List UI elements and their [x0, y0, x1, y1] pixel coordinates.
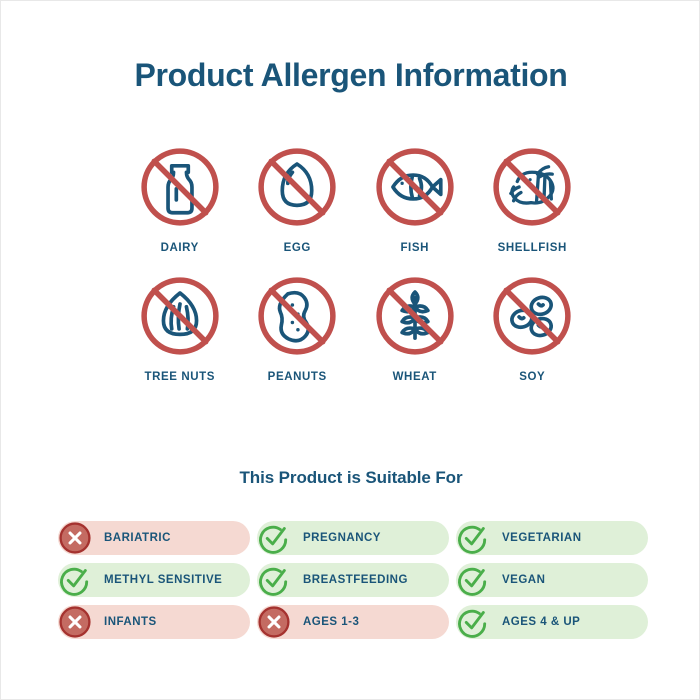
allergen-label: FISH	[400, 242, 429, 254]
suitability-item-pregnancy[interactable]: PREGNANCY	[257, 521, 449, 555]
prohibition-badge-fish	[369, 141, 461, 233]
allergen-grid: DAIRY EGG	[121, 141, 591, 383]
allergen-label: EGG	[284, 242, 311, 254]
allergen-item-egg: EGG	[239, 141, 357, 254]
prohibition-badge-shellfish	[486, 141, 578, 233]
allergen-label: DAIRY	[161, 242, 199, 254]
cross-circle-icon	[57, 604, 93, 640]
no-slash-circle	[144, 280, 216, 352]
allergen-infographic: Product Allergen Information DAIRY	[0, 0, 700, 700]
prohibition-badge-dairy	[134, 141, 226, 233]
suitability-label: METHYL SENSITIVE	[104, 574, 222, 586]
allergen-label: WHEAT	[393, 371, 437, 383]
allergen-item-peanuts: PEANUTS	[239, 270, 357, 383]
suitability-grid: BARIATRIC PREGNANCY VEGETARIAN	[58, 521, 648, 639]
prohibition-badge-tree-nuts	[134, 270, 226, 362]
suitability-label: AGES 1-3	[303, 616, 359, 628]
prohibition-badge-egg	[251, 141, 343, 233]
no-slash-circle	[496, 151, 568, 223]
allergen-item-fish: FISH	[356, 141, 474, 254]
check-circle-icon	[256, 562, 292, 598]
suitability-label: BREASTFEEDING	[303, 574, 408, 586]
page-title: Product Allergen Information	[1, 57, 700, 94]
no-slash-circle	[496, 280, 568, 352]
check-circle-icon	[256, 520, 292, 556]
suitability-item-methyl-sensitive[interactable]: METHYL SENSITIVE	[58, 563, 250, 597]
allergen-item-wheat: WHEAT	[356, 270, 474, 383]
allergen-item-soy: SOY	[474, 270, 592, 383]
suitability-label: AGES 4 & UP	[502, 616, 580, 628]
allergen-item-tree-nuts: TREE NUTS	[121, 270, 239, 383]
suitability-item-breastfeeding[interactable]: BREASTFEEDING	[257, 563, 449, 597]
suitability-label: BARIATRIC	[104, 532, 171, 544]
allergen-label: TREE NUTS	[144, 371, 215, 383]
allergen-label: SOY	[519, 371, 545, 383]
suitability-item-infants[interactable]: INFANTS	[58, 605, 250, 639]
prohibition-badge-wheat	[369, 270, 461, 362]
allergen-item-dairy: DAIRY	[121, 141, 239, 254]
suitability-label: INFANTS	[104, 616, 157, 628]
allergen-item-shellfish: SHELLFISH	[474, 141, 592, 254]
prohibition-badge-peanuts	[251, 270, 343, 362]
check-circle-icon	[57, 562, 93, 598]
check-circle-icon	[455, 604, 491, 640]
allergen-label: SHELLFISH	[498, 242, 567, 254]
suitability-item-vegetarian[interactable]: VEGETARIAN	[456, 521, 648, 555]
suitability-label: PREGNANCY	[303, 532, 381, 544]
allergen-label: PEANUTS	[268, 371, 327, 383]
suitability-item-bariatric[interactable]: BARIATRIC	[58, 521, 250, 555]
suitability-item-vegan[interactable]: VEGAN	[456, 563, 648, 597]
check-circle-icon	[455, 562, 491, 598]
suitability-item-ages-1-3[interactable]: AGES 1-3	[257, 605, 449, 639]
suitability-heading: This Product is Suitable For	[1, 468, 700, 488]
suitability-label: VEGETARIAN	[502, 532, 582, 544]
cross-circle-icon	[256, 604, 292, 640]
no-slash-circle	[261, 151, 333, 223]
prohibition-badge-soy	[486, 270, 578, 362]
suitability-item-ages-4-and-up[interactable]: AGES 4 & UP	[456, 605, 648, 639]
cross-circle-icon	[57, 520, 93, 556]
check-circle-icon	[455, 520, 491, 556]
suitability-label: VEGAN	[502, 574, 545, 586]
